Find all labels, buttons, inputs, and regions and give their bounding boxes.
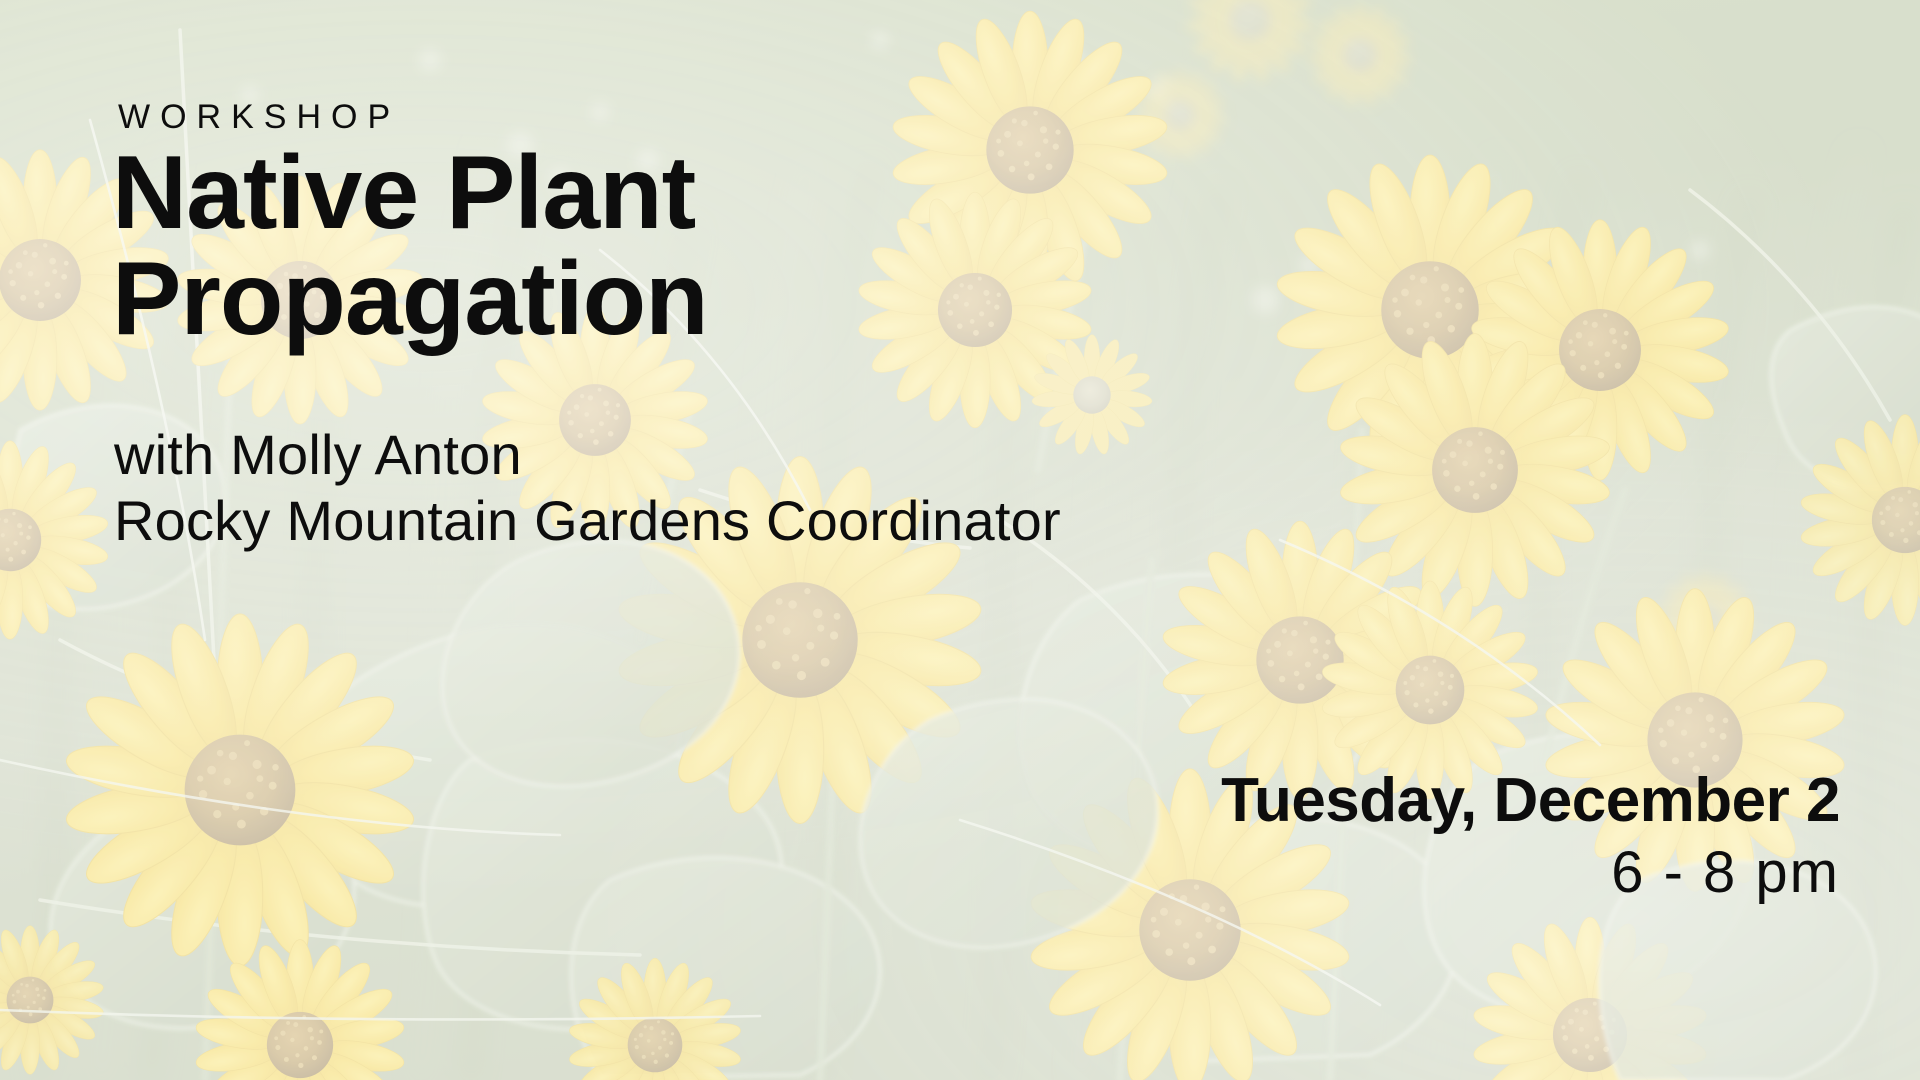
eyebrow-label: WORKSHOP	[118, 100, 400, 134]
event-time: 6 - 8 pm	[1221, 839, 1840, 907]
page-title: Native Plant Propagation	[112, 140, 708, 352]
presenter-title: Rocky Mountain Gardens Coordinator	[114, 488, 1061, 554]
presenter-block: with Molly Anton Rocky Mountain Gardens …	[114, 422, 1061, 554]
event-date: Tuesday, December 2	[1221, 768, 1840, 835]
title-line-2: Propagation	[112, 246, 708, 352]
poster-canvas: WORKSHOP Native Plant Propagation with M…	[0, 0, 1920, 1080]
title-line-1: Native Plant	[112, 140, 708, 246]
text-layer: WORKSHOP Native Plant Propagation with M…	[0, 0, 1920, 1080]
presenter-name: with Molly Anton	[114, 422, 1061, 488]
schedule-block: Tuesday, December 2 6 - 8 pm	[1221, 768, 1840, 907]
